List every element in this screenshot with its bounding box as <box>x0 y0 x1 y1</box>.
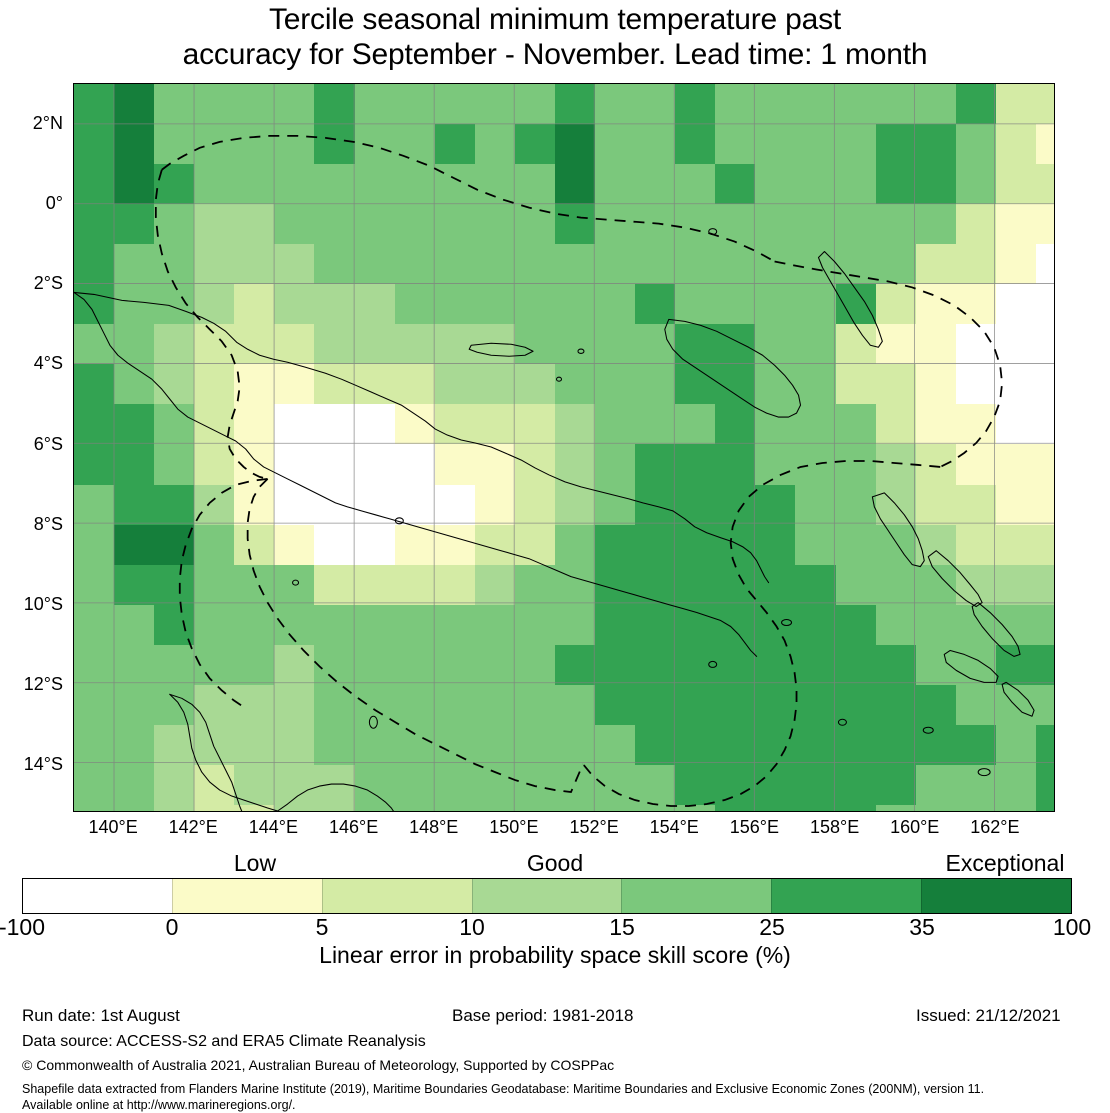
page-title: Tercile seasonal minimum temperature pas… <box>0 2 1110 72</box>
colorbar-tick-label: 100 <box>1007 915 1110 940</box>
colorbar-swatch <box>771 879 921 913</box>
lat-tick-label: 2°S <box>0 274 63 292</box>
map-plot-area <box>73 83 1055 812</box>
lat-tick-label: 10°S <box>0 595 63 613</box>
colorbar-swatch <box>621 879 771 913</box>
colorbar-tick-label: -100 <box>0 915 87 940</box>
lat-tick-label: 6°S <box>0 435 63 453</box>
colorbar-swatch <box>322 879 472 913</box>
lat-tick-label: 2°N <box>0 114 63 132</box>
colorbar-caption: Linear error in probability space skill … <box>0 942 1110 968</box>
lat-tick-label: 12°S <box>0 675 63 693</box>
copyright-text: © Commonwealth of Australia 2021, Austra… <box>22 1055 614 1075</box>
issued-date-text: Issued: 21/12/2021 <box>916 1006 1061 1026</box>
coastline-and-eez-overlay <box>74 84 1054 811</box>
base-period-text: Base period: 1981-2018 <box>452 1006 633 1026</box>
colorbar-swatch <box>172 879 322 913</box>
colorbar-tick-label: 10 <box>407 915 537 940</box>
lon-tick-label: 162°E <box>935 818 1055 836</box>
colorbar-category-label: Good <box>435 851 675 875</box>
lat-tick-label: 14°S <box>0 755 63 773</box>
colorbar-tick-label: 25 <box>707 915 837 940</box>
colorbar-tick-label: 35 <box>857 915 987 940</box>
data-source-text: Data source: ACCESS-S2 and ERA5 Climate … <box>22 1032 426 1052</box>
colorbar-swatch <box>921 879 1071 913</box>
lat-tick-label: 8°S <box>0 515 63 533</box>
colorbar-swatch <box>472 879 622 913</box>
colorbar-tick-label: 0 <box>107 915 237 940</box>
colorbar-category-label: Low <box>135 851 375 875</box>
shapefile-attribution-text: Shapefile data extracted from Flanders M… <box>22 1081 984 1113</box>
colorbar-tick-label: 5 <box>257 915 387 940</box>
lat-tick-label: 0° <box>0 194 63 212</box>
colorbar-swatch <box>23 879 172 913</box>
skill-score-colorbar <box>22 878 1072 914</box>
lat-tick-label: 4°S <box>0 354 63 372</box>
run-date-text: Run date: 1st August <box>22 1006 180 1026</box>
colorbar-category-label: Exceptional <box>885 851 1110 875</box>
colorbar-tick-label: 15 <box>557 915 687 940</box>
